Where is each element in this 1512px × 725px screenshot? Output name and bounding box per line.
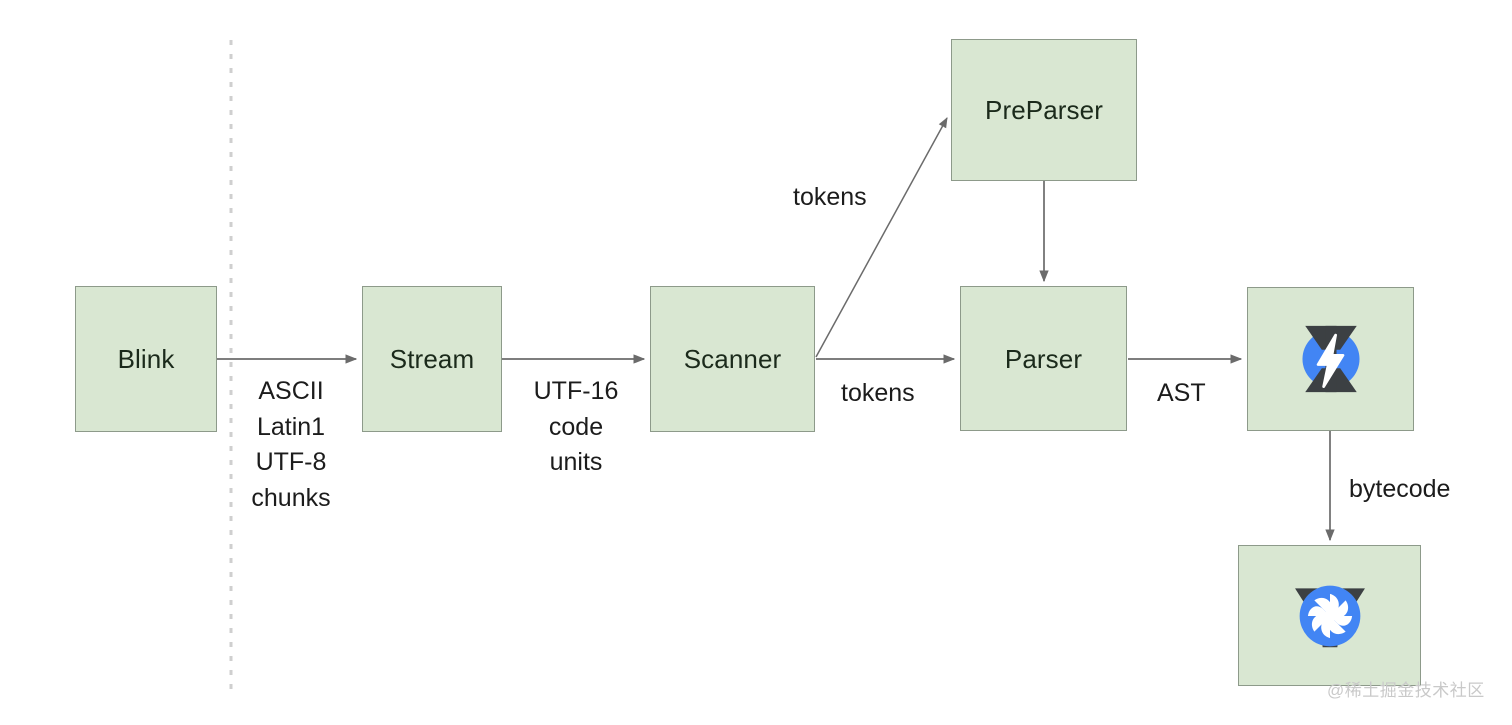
node-stream[interactable]: Stream xyxy=(362,286,502,432)
edge-label-blink-stream: ASCII Latin1 UTF-8 chunks xyxy=(239,374,343,516)
node-blink-label: Blink xyxy=(118,346,175,372)
ignition-icon xyxy=(1285,313,1377,405)
diagram-canvas: Blink Stream Scanner PreParser Parser xyxy=(0,0,1512,725)
turbofan-icon xyxy=(1284,570,1376,662)
node-stream-label: Stream xyxy=(390,346,474,372)
node-ignition[interactable] xyxy=(1247,287,1414,431)
edge-scanner-to-preparser xyxy=(816,118,947,357)
node-blink[interactable]: Blink xyxy=(75,286,217,432)
node-scanner[interactable]: Scanner xyxy=(650,286,815,432)
edge-label-scanner-preparser: tokens xyxy=(793,180,893,216)
node-parser-label: Parser xyxy=(1005,346,1082,372)
node-preparser[interactable]: PreParser xyxy=(951,39,1137,181)
edge-label-stream-scanner: UTF-16 code units xyxy=(524,374,628,481)
node-turbofan[interactable] xyxy=(1238,545,1421,686)
watermark-text: @稀土掘金技术社区 xyxy=(1327,676,1485,701)
edge-label-scanner-parser: tokens xyxy=(841,376,941,412)
node-scanner-label: Scanner xyxy=(684,346,782,372)
edge-label-parser-ignition: AST xyxy=(1157,376,1227,412)
edge-label-ignition-turbofan: bytecode xyxy=(1349,472,1489,508)
node-parser[interactable]: Parser xyxy=(960,286,1127,431)
node-preparser-label: PreParser xyxy=(985,97,1103,123)
